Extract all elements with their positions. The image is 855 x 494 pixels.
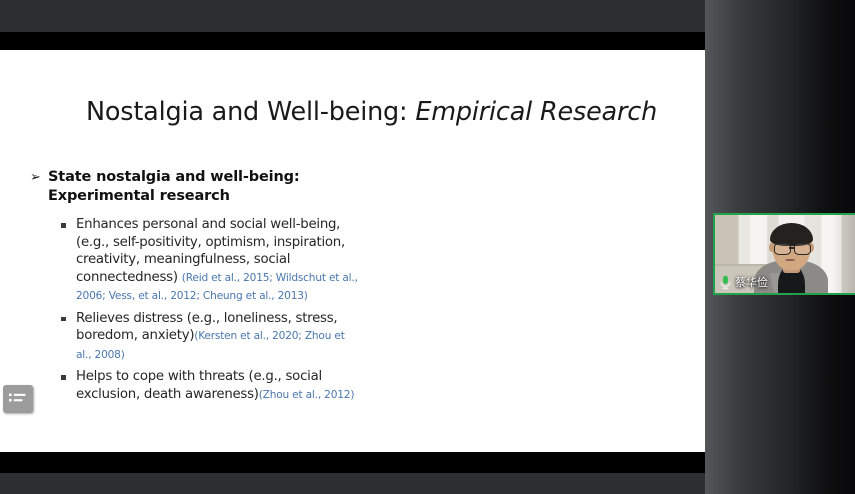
- slide-bullet-level1-text: State nostalgia and well-being: Experime…: [48, 168, 360, 206]
- slide-title-main: Nostalgia and Well-being:: [86, 97, 407, 127]
- arrow-bullet-icon: ➢: [30, 168, 48, 187]
- participant-name: 蔡华俭: [735, 276, 768, 289]
- slide-title: Nostalgia and Well-being: Empirical Rese…: [86, 98, 666, 127]
- list-item: Enhances personal and social well-being,…: [60, 216, 360, 306]
- citation: (Zhou et al., 2012): [259, 389, 355, 401]
- list-item: Relieves distress (e.g., loneliness, str…: [60, 310, 360, 365]
- microphone-unmuted-icon: [719, 275, 732, 290]
- slide-body: ➢ State nostalgia and well-being: Experi…: [30, 168, 360, 408]
- list-view-icon: [9, 392, 27, 406]
- share-chrome-bottom-bar: [0, 473, 705, 494]
- slide-title-italic: Empirical Research: [415, 97, 657, 127]
- letterbox-top: [0, 32, 705, 50]
- presentation-slide: Nostalgia and Well-being: Empirical Rese…: [0, 50, 705, 452]
- slide-bullet-level1: ➢ State nostalgia and well-being: Experi…: [30, 168, 360, 206]
- participant-video-tile[interactable]: 蔡华俭: [713, 213, 855, 295]
- zoom-meeting-window: Nostalgia and Well-being: Empirical Rese…: [0, 0, 855, 494]
- share-chrome-top-bar: [0, 0, 705, 32]
- participant-name-plate: 蔡华俭: [718, 274, 772, 291]
- participant-video-strip: 蔡华俭: [705, 0, 855, 494]
- list-item: Helps to cope with threats (e.g., social…: [60, 368, 360, 404]
- view-options-button[interactable]: [3, 385, 33, 413]
- slide-sub-bullet-list: Enhances personal and social well-being,…: [30, 216, 360, 404]
- screen-share-region: Nostalgia and Well-being: Empirical Rese…: [0, 0, 705, 494]
- letterbox-bottom: [0, 452, 705, 473]
